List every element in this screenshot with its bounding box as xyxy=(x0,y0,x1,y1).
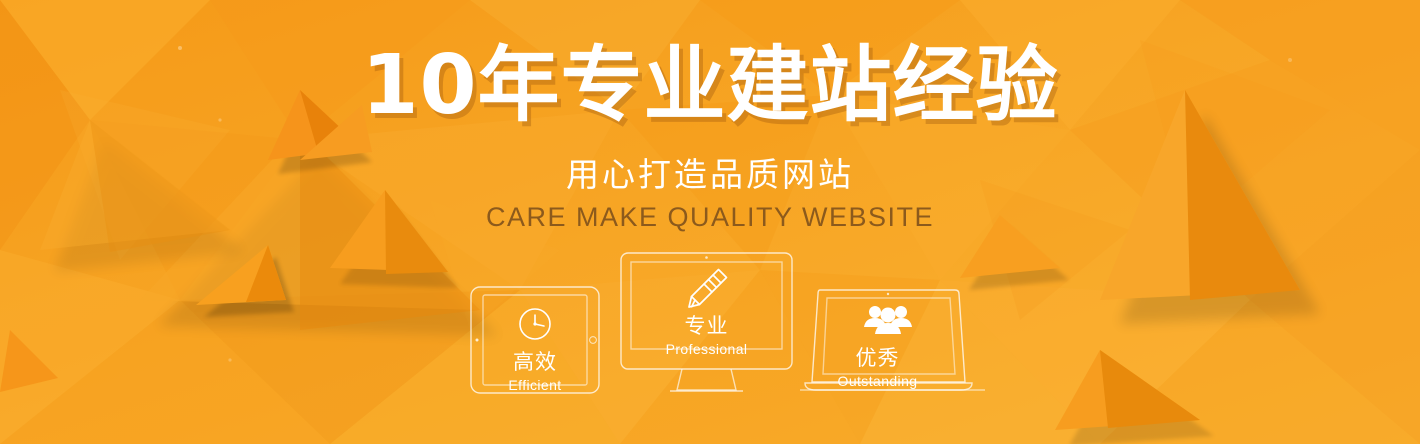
feature-card-laptop xyxy=(800,286,985,398)
clock-icon xyxy=(520,309,550,339)
feature-card-monitor xyxy=(620,252,793,402)
monitor-camera-dot xyxy=(705,256,708,259)
banner-subtitle-english: CARE MAKE QUALITY WEBSITE xyxy=(0,200,1420,234)
feature-device-group: 高效 Efficient xyxy=(455,250,985,410)
laptop-camera-dot xyxy=(887,293,889,295)
banner-subtitle-chinese: 用心打造品质网站 xyxy=(0,155,1420,195)
people-group-icon xyxy=(864,306,912,334)
feature-card-tablet xyxy=(470,286,600,394)
promo-banner: 10年专业建站经验 用心打造品质网站 CARE MAKE QUALITY WEB… xyxy=(0,0,1420,444)
banner-headline: 10年专业建站经验 xyxy=(0,38,1420,134)
pencil-icon xyxy=(689,270,727,308)
tablet-camera-dot xyxy=(476,339,479,342)
tablet-home-button xyxy=(590,337,597,344)
